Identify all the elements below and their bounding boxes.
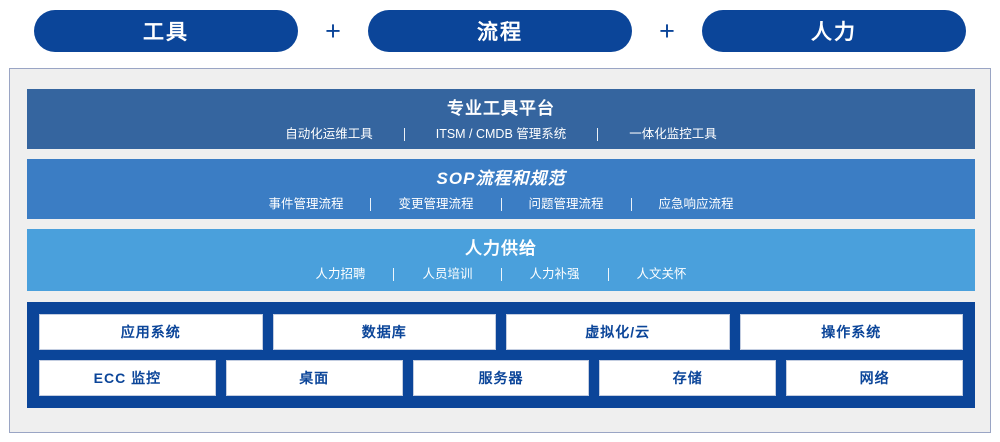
chip-virtualization-cloud[interactable]: 虚拟化/云 xyxy=(506,314,730,350)
band-tools-title: 专业工具平台 xyxy=(27,98,975,120)
band-tools-item-3[interactable]: 一体化监控工具 xyxy=(601,124,745,144)
separator-icon xyxy=(501,268,502,281)
band-process-item-1[interactable]: 事件管理流程 xyxy=(244,194,367,214)
band-people-item-4[interactable]: 人文关怀 xyxy=(612,264,712,284)
separator-icon xyxy=(631,198,632,211)
plus-operator-1: + xyxy=(298,18,368,45)
band-process: SOP流程和规范 事件管理流程 变更管理流程 问题管理流程 应急响应流程 xyxy=(27,159,975,219)
band-process-item-2[interactable]: 变更管理流程 xyxy=(374,194,497,214)
formula-pill-tools[interactable]: 工具 xyxy=(34,10,298,52)
band-tools-item-2[interactable]: ITSM / CMDB 管理系统 xyxy=(408,124,595,144)
chip-server[interactable]: 服务器 xyxy=(413,360,590,396)
formula-pill-tools-label: 工具 xyxy=(143,16,189,46)
formula-pill-people[interactable]: 人力 xyxy=(702,10,966,52)
formula-pill-people-label: 人力 xyxy=(811,16,857,46)
chip-network[interactable]: 网络 xyxy=(786,360,963,396)
band-people-item-1[interactable]: 人力招聘 xyxy=(290,264,390,284)
formula-pill-process[interactable]: 流程 xyxy=(368,10,632,52)
chip-operating-system[interactable]: 操作系统 xyxy=(740,314,964,350)
band-tools-items: 自动化运维工具 ITSM / CMDB 管理系统 一体化监控工具 xyxy=(27,124,975,144)
band-people-item-2[interactable]: 人员培训 xyxy=(397,264,497,284)
band-people-title: 人力供给 xyxy=(27,238,975,260)
separator-icon xyxy=(393,268,394,281)
domain-panel: 应用系统 数据库 虚拟化/云 操作系统 ECC 监控 桌面 服务器 存储 网络 xyxy=(27,302,975,408)
model-frame: 专业工具平台 自动化运维工具 ITSM / CMDB 管理系统 一体化监控工具 … xyxy=(9,68,991,433)
separator-icon xyxy=(404,128,405,141)
chip-storage[interactable]: 存储 xyxy=(599,360,776,396)
band-process-item-4[interactable]: 应急响应流程 xyxy=(635,194,758,214)
formula-row: 工具 + 流程 + 人力 xyxy=(0,0,1000,62)
band-people-items: 人力招聘 人员培训 人力补强 人文关怀 xyxy=(27,264,975,284)
band-tools-item-1[interactable]: 自动化运维工具 xyxy=(257,124,401,144)
chip-ecc-monitoring[interactable]: ECC 监控 xyxy=(39,360,216,396)
separator-icon xyxy=(370,198,371,211)
separator-icon xyxy=(597,128,598,141)
band-process-title: SOP流程和规范 xyxy=(27,168,975,190)
band-process-items: 事件管理流程 变更管理流程 问题管理流程 应急响应流程 xyxy=(27,194,975,214)
formula-pill-process-label: 流程 xyxy=(477,16,523,46)
chip-application-system[interactable]: 应用系统 xyxy=(39,314,263,350)
plus-operator-2: + xyxy=(632,18,702,45)
separator-icon xyxy=(608,268,609,281)
domain-panel-row-2: ECC 监控 桌面 服务器 存储 网络 xyxy=(39,360,963,396)
chip-desktop[interactable]: 桌面 xyxy=(226,360,403,396)
band-people-item-3[interactable]: 人力补强 xyxy=(505,264,605,284)
band-process-item-3[interactable]: 问题管理流程 xyxy=(505,194,628,214)
band-tools: 专业工具平台 自动化运维工具 ITSM / CMDB 管理系统 一体化监控工具 xyxy=(27,89,975,149)
chip-database[interactable]: 数据库 xyxy=(273,314,497,350)
band-people: 人力供给 人力招聘 人员培训 人力补强 人文关怀 xyxy=(27,229,975,291)
domain-panel-row-1: 应用系统 数据库 虚拟化/云 操作系统 xyxy=(39,314,963,350)
capability-model-diagram: 工具 + 流程 + 人力 专业工具平台 自动化运维工具 ITSM / CMDB … xyxy=(0,0,1000,442)
separator-icon xyxy=(501,198,502,211)
